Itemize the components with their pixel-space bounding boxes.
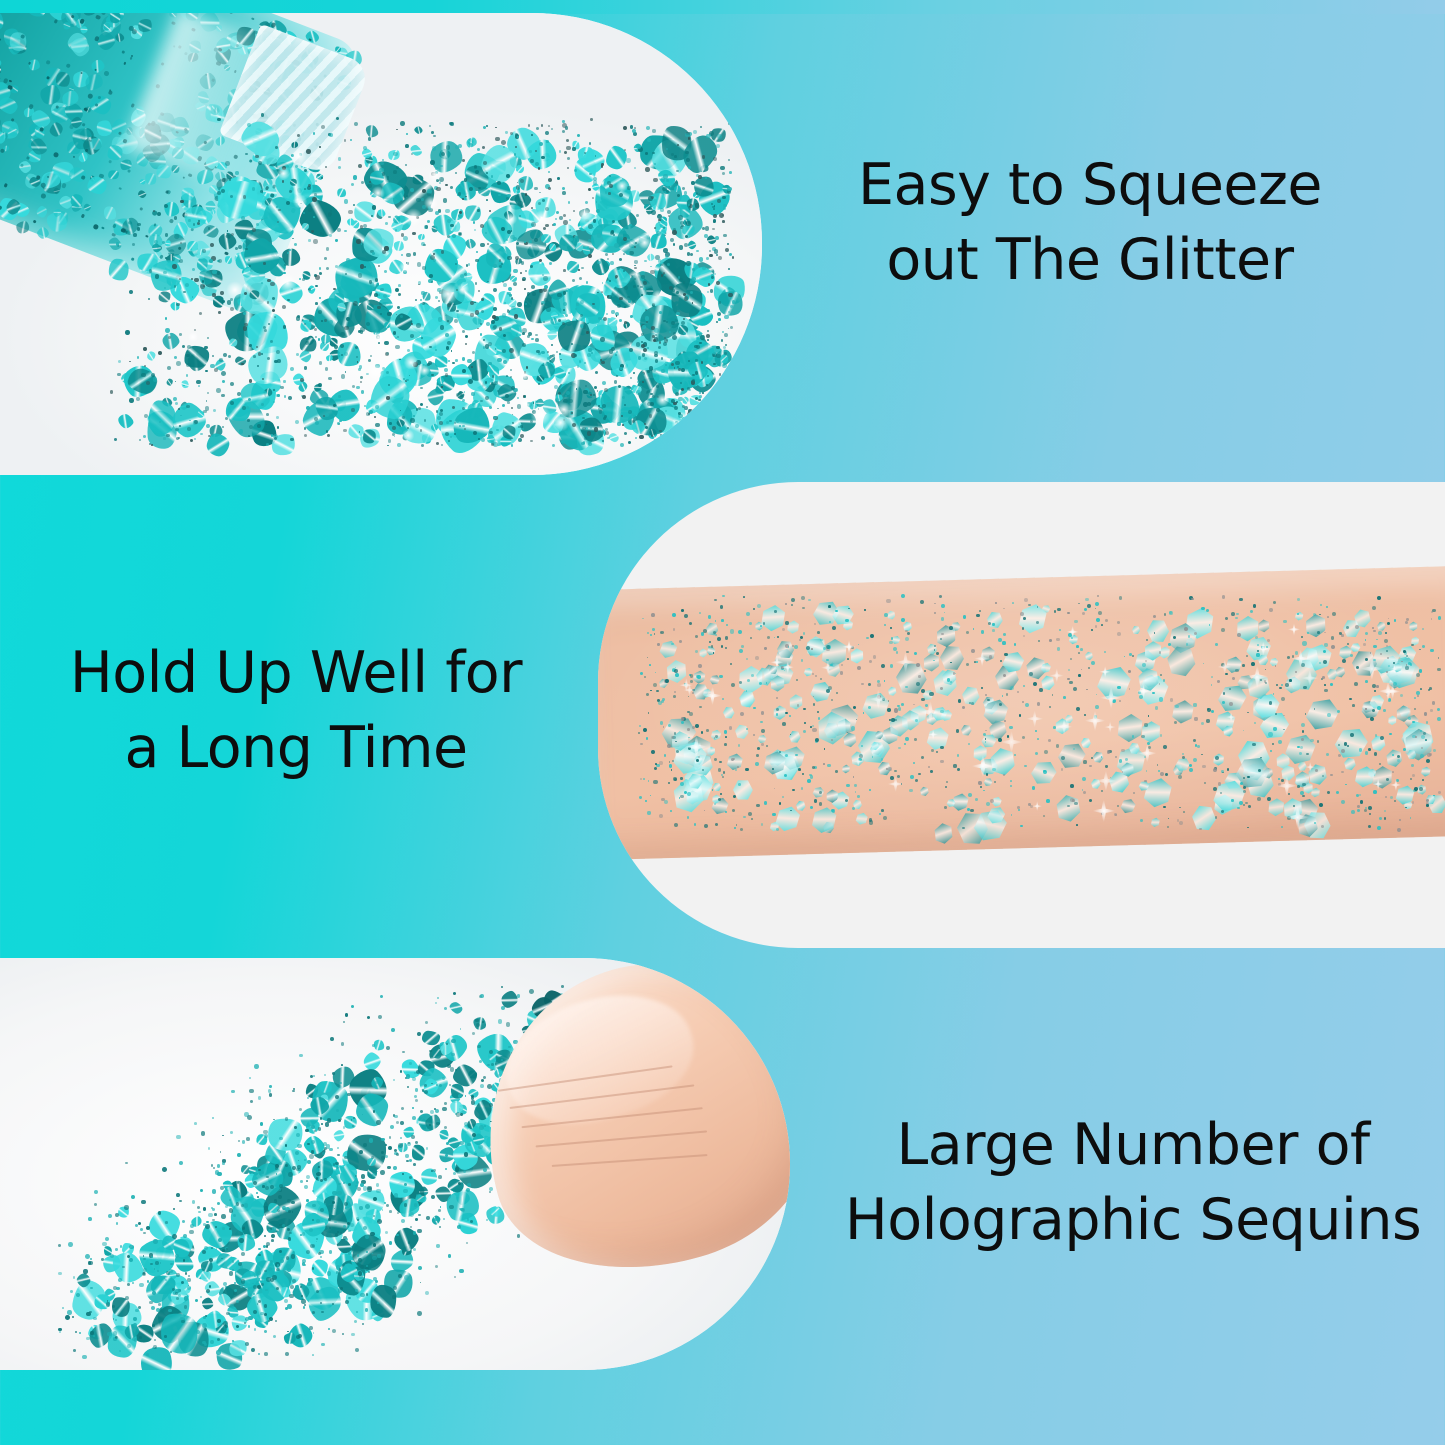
top-accent-strip <box>0 0 1445 14</box>
glitter-flake <box>209 208 216 215</box>
glitter-speck <box>61 183 67 189</box>
glitter-speck <box>82 123 85 126</box>
glitter-speck <box>298 189 303 194</box>
glitter-flake <box>203 223 220 238</box>
glitter-flake <box>56 71 71 87</box>
glitter-flake <box>93 118 114 139</box>
glitter-flake <box>89 94 113 116</box>
glitter-speck <box>240 254 246 260</box>
glitter-flake <box>137 189 147 198</box>
glitter-flake <box>241 237 258 255</box>
glitter-speck <box>69 123 75 129</box>
glitter-speck <box>73 156 76 159</box>
glitter-speck <box>65 63 71 69</box>
glitter-flake <box>0 73 1 80</box>
glitter-speck <box>182 176 185 179</box>
glitter-speck <box>228 13 234 14</box>
glitter-speck <box>224 251 229 256</box>
glitter-flake <box>140 13 165 15</box>
glitter-speck <box>272 184 277 189</box>
glitter-speck <box>290 208 296 214</box>
glitter-speck <box>190 227 195 232</box>
glitter-flake <box>26 57 42 73</box>
glitter-speck <box>53 152 59 158</box>
glitter-speck <box>101 226 105 230</box>
glitter-flake <box>106 236 123 253</box>
glitter-speck <box>4 183 9 188</box>
glitter-speck <box>104 71 110 77</box>
glitter-flake <box>27 13 48 17</box>
forearm-skin <box>598 566 1445 860</box>
glitter-flake <box>0 95 19 116</box>
glitter-speck <box>233 196 238 201</box>
glitter-speck <box>33 219 37 223</box>
glitter-flake <box>48 121 64 138</box>
glitter-speck <box>130 54 133 57</box>
glitter-flake <box>118 157 133 171</box>
glitter-speck <box>121 50 125 54</box>
glitter-speck <box>108 160 112 164</box>
glitter-flake <box>108 170 120 181</box>
arm-glitter-swatch-photo <box>598 482 1445 948</box>
glitter-speck <box>118 187 121 190</box>
glitter-flake <box>139 179 146 185</box>
glitter-speck <box>45 60 50 65</box>
glitter-flake <box>70 193 82 206</box>
glitter-speck <box>251 17 255 21</box>
glitter-flake <box>270 256 286 276</box>
glitter-flake <box>0 34 2 50</box>
glitter-flake <box>197 257 208 271</box>
glitter-speck <box>131 257 135 261</box>
glitter-speck <box>93 224 99 230</box>
glitter-flake <box>107 145 122 160</box>
glitter-speck <box>139 206 144 211</box>
glitter-speck <box>41 193 47 199</box>
glitter-speck <box>53 19 58 24</box>
glitter-speck <box>197 285 200 288</box>
glitter-speck <box>188 173 192 177</box>
glitter-speck <box>249 159 253 163</box>
glitter-bottle-pouring-photo <box>0 13 762 475</box>
glitter-speck <box>124 62 127 65</box>
glitter-speck <box>152 210 158 216</box>
glitter-speck <box>0 148 5 153</box>
glitter-speck <box>101 13 106 16</box>
glitter-flake <box>156 164 171 179</box>
glitter-flake <box>161 199 181 219</box>
glitter-flake <box>86 175 107 194</box>
glitter-speck <box>95 15 101 21</box>
glitter-speck <box>182 212 188 218</box>
glitter-speck <box>81 214 85 218</box>
glitter-speck <box>0 38 1 41</box>
glitter-speck <box>289 187 295 193</box>
glitter-speck <box>127 168 132 173</box>
glitter-flake <box>144 171 158 185</box>
glitter-flake <box>82 203 91 212</box>
glitter-speck <box>9 79 12 82</box>
glitter-speck <box>169 218 174 223</box>
glitter-speck <box>131 103 135 107</box>
glitter-flake <box>266 156 278 166</box>
glitter-speck <box>188 286 191 289</box>
thumb-pressing-glitter-photo <box>0 958 790 1370</box>
